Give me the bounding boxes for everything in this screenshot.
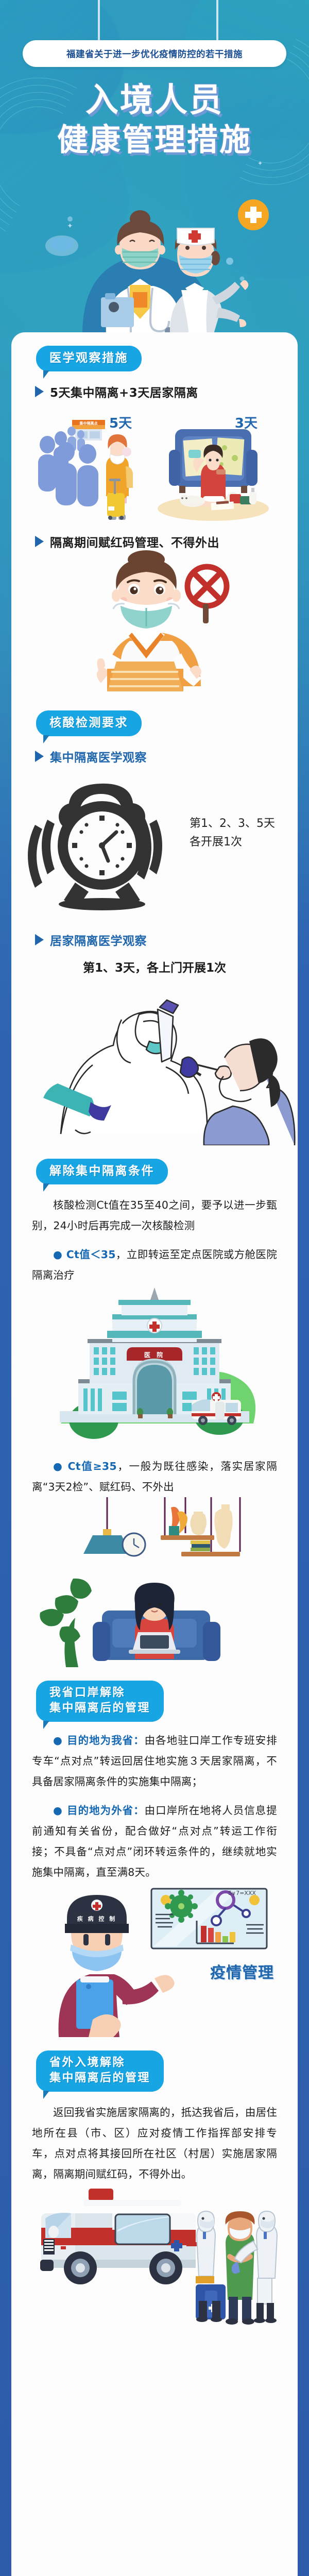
- badge-province-port-management: 我省口岸解除 集中隔离后的管理: [36, 1681, 164, 1722]
- bullet-dot-icon: ●: [53, 1734, 67, 1747]
- bullet-centralized-observation: 集中隔离医学观察: [35, 748, 298, 765]
- section-province-port-management: 我省口岸解除 集中隔离后的管理 ● 目的地为我省：由各地驻口岸工作专班安排专车“…: [11, 1667, 298, 2037]
- section-medical-observation: 医学观察措施 5天集中隔离+3天居家隔离 5天 3天 集中隔离点: [11, 332, 298, 697]
- bullet-dot-icon: ●: [53, 1460, 67, 1472]
- page-title-line2: 健康管理措施: [0, 122, 309, 159]
- cdc-officer-illustration: 疫情管理: [11, 1883, 298, 2037]
- ct-item-1: ● Ct值＜35，立即转运至定点医院或方舱医院隔离治疗: [32, 1244, 277, 1285]
- alarm-clock-illustration: 第1、2、3、5天 各开展1次: [11, 765, 298, 920]
- badge-release-conditions: 解除集中隔离条件: [36, 1159, 168, 1184]
- test-schedule-note-1: 第1、2、3、5天 各开展1次: [190, 815, 275, 852]
- destination-out-province: ● 目的地为外省：由口岸所在地将人员信息提前通知有关省份，配合做好“点对点”转运…: [32, 1800, 277, 1883]
- badge-out-of-province-line2: 集中隔离后的管理: [49, 2071, 150, 2086]
- hospital-illustration: 医 院: [11, 1285, 298, 1448]
- svg-text:医 院: 医 院: [144, 1351, 165, 1359]
- badge-nucleic-acid-testing: 核酸检测要求: [36, 710, 142, 736]
- bullet-quarantine-split: 5天集中隔离+3天居家隔离: [35, 383, 298, 400]
- home-isolation-illustration: [11, 1497, 298, 1667]
- svg-text:疾 病 控 制: 疾 病 控 制: [77, 1915, 117, 1922]
- triangle-bullet-icon: [35, 536, 44, 547]
- bullet-home-observation: 居家隔离医学观察: [35, 931, 298, 948]
- bullet-dot-icon: ●: [53, 1804, 67, 1817]
- hero-header: 福建省关于进一步优化疫情防控的若干措施 入境人员 健康管理措施: [0, 0, 309, 332]
- svg-text:S∨7=XXX: S∨7=XXX: [228, 1890, 256, 1896]
- destination-in-province: ● 目的地为我省：由各地驻口岸工作专班安排专车“点对点”转运回居住地实施３天居家…: [32, 1730, 277, 1792]
- badge-nucleic-acid-testing-label: 核酸检测要求: [49, 715, 128, 731]
- badge-out-of-province-line1: 省外入境解除: [49, 2055, 150, 2071]
- day-tag-right: 3天: [235, 413, 257, 432]
- badge-out-of-province-management: 省外入境解除 集中隔离后的管理: [36, 2050, 164, 2092]
- svg-text:集中隔离点: 集中隔离点: [79, 421, 98, 426]
- return-home-paragraph: 返回我省实施居家隔离的，抵达我省后，由居住地所在县（市、区）应对疫情工作指挥部安…: [32, 2102, 277, 2184]
- bullet-red-code: 隔离期间赋红码管理、不得外出: [35, 533, 298, 550]
- ambulance-transfer-illustration: [11, 2184, 298, 2339]
- badge-province-port-line1: 我省口岸解除: [49, 1685, 150, 1701]
- prohibition-sign-icon: [187, 567, 227, 623]
- policy-ribbon-text: 福建省关于进一步优化疫情防控的若干措施: [66, 47, 243, 60]
- doctor-nurse-illustration: [0, 196, 309, 335]
- triangle-bullet-icon: [35, 386, 44, 397]
- section-out-of-province-management: 省外入境解除 集中隔离后的管理 返回我省实施居家隔离的，抵达我省后，由居住地所在…: [11, 2037, 298, 2339]
- badge-province-port-line2: 集中隔离后的管理: [49, 1701, 150, 1716]
- content-card: 医学观察措施 5天集中隔离+3天居家隔离 5天 3天 集中隔离点: [11, 332, 298, 2576]
- policy-ribbon: 福建省关于进一步优化疫情防控的若干措施: [23, 40, 286, 67]
- page-title-line1: 入境人员: [0, 81, 309, 120]
- test-schedule-note-2: 第1、3天，各上门开展1次: [11, 958, 298, 975]
- epidemic-management-label: 疫情管理: [210, 1960, 274, 1982]
- page-title: 入境人员 健康管理措施: [0, 81, 309, 159]
- quarantine-illustration: 5天 3天 集中隔离点: [11, 400, 298, 521]
- swab-test-illustration: [11, 975, 298, 1145]
- ct-value-paragraph: 核酸检测Ct值在35至40之间，要予以进一步甄别，24小时后再完成一次核酸检测: [32, 1195, 277, 1236]
- badge-release-conditions-label: 解除集中隔离条件: [49, 1163, 154, 1179]
- boy-no-entry-illustration: [11, 550, 298, 697]
- ct-item-2: ● Ct值≥35，一般为既往感染，落实居家隔离“3天2检”、赋红码、不外出: [32, 1456, 277, 1497]
- section-release-conditions: 解除集中隔离条件 核酸检测Ct值在35至40之间，要予以进一步甄别，24小时后再…: [11, 1145, 298, 1667]
- badge-medical-observation-label: 医学观察措施: [49, 350, 128, 366]
- bullet-dot-icon: ●: [53, 1248, 66, 1261]
- triangle-bullet-icon: [35, 751, 44, 762]
- badge-medical-observation: 医学观察措施: [36, 346, 142, 371]
- triangle-bullet-icon: [35, 934, 44, 945]
- section-nucleic-acid-testing: 核酸检测要求 集中隔离医学观察 第1、2、3、5天 各开展1次: [11, 697, 298, 1145]
- day-tag-left: 5天: [109, 413, 132, 432]
